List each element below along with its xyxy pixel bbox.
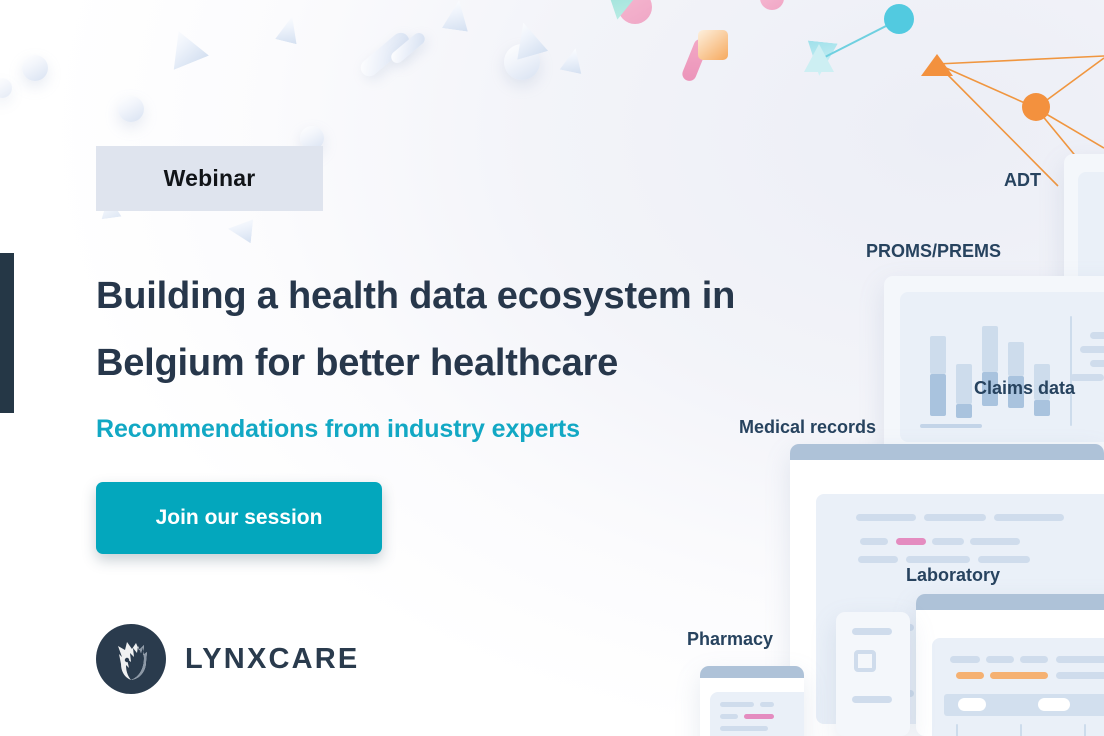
chart-bar	[1008, 342, 1024, 376]
chart-bar	[956, 404, 972, 418]
decor-cone-cyan	[804, 41, 837, 78]
decor-capsule	[357, 29, 412, 79]
hero-content: Webinar Building a health data ecosystem…	[96, 146, 796, 554]
decor-cone	[508, 18, 548, 60]
decor-sphere	[22, 55, 48, 81]
network-edge	[937, 64, 1036, 108]
table-chip	[958, 698, 986, 711]
decor-capsule	[389, 31, 427, 66]
network-edge	[819, 20, 898, 60]
network-edge	[1036, 58, 1104, 108]
network-edge	[1036, 108, 1092, 176]
card-icon-square	[854, 650, 876, 672]
decor-cone	[161, 24, 209, 70]
label-adt: ADT	[1004, 170, 1041, 191]
decor-square-orange	[698, 30, 728, 60]
chart-bar	[930, 336, 946, 374]
chart-bar	[930, 374, 946, 416]
page-subtitle: Recommendations from industry experts	[96, 415, 796, 444]
network-node-triangle-cyan	[804, 44, 834, 72]
label-medical-records: Medical records	[739, 417, 876, 438]
network-edge	[937, 56, 1104, 64]
decor-cone-mint	[595, 0, 648, 24]
page-title: Building a health data ecosystem in Belg…	[96, 263, 776, 397]
chart-bar	[982, 326, 998, 372]
label-laboratory: Laboratory	[906, 565, 1000, 586]
decor-cone	[275, 14, 303, 45]
label-proms-prems: PROMS/PREMS	[866, 241, 1001, 262]
chart-bar	[1034, 400, 1050, 416]
card-pharmacy	[700, 666, 804, 736]
hero-section: ADT PROMS/PREMS Claims data Medical reco…	[0, 0, 1104, 736]
left-accent-bar	[0, 253, 14, 413]
network-node-triangle-orange	[921, 54, 953, 76]
decor-circle-pink	[760, 0, 784, 10]
network-node-circle-cyan	[884, 4, 914, 34]
card-header-bar	[790, 444, 1104, 460]
decor-cone	[442, 0, 472, 32]
chart-bar	[956, 364, 972, 404]
card-medical-records	[790, 444, 1104, 736]
card-icon-square	[860, 644, 882, 666]
network-edge	[937, 64, 1058, 186]
label-claims-data: Claims data	[974, 378, 1075, 399]
lynx-head-icon	[96, 624, 166, 694]
card-laboratory	[916, 594, 1104, 736]
decor-capsule-pink	[680, 37, 709, 83]
card-sliver	[836, 612, 910, 736]
card-header-bar	[916, 594, 1104, 610]
brand-logo[interactable]: LYNXCARE	[96, 624, 359, 694]
decor-cone	[560, 46, 587, 74]
join-session-button[interactable]: Join our session	[96, 482, 382, 554]
card-adt	[1064, 154, 1104, 354]
decor-sphere	[0, 78, 12, 98]
webinar-badge: Webinar	[96, 146, 323, 211]
decor-sphere	[504, 44, 540, 80]
card-icon-square	[918, 644, 940, 666]
card-header-bar	[700, 666, 804, 678]
network-node-circle-orange	[1022, 93, 1050, 121]
decor-circle-pink	[618, 0, 652, 24]
decor-sphere	[118, 96, 144, 122]
network-edge	[1036, 108, 1104, 148]
label-pharmacy: Pharmacy	[687, 629, 773, 650]
logo-wordmark: LYNXCARE	[185, 643, 359, 676]
table-chip	[1038, 698, 1070, 711]
